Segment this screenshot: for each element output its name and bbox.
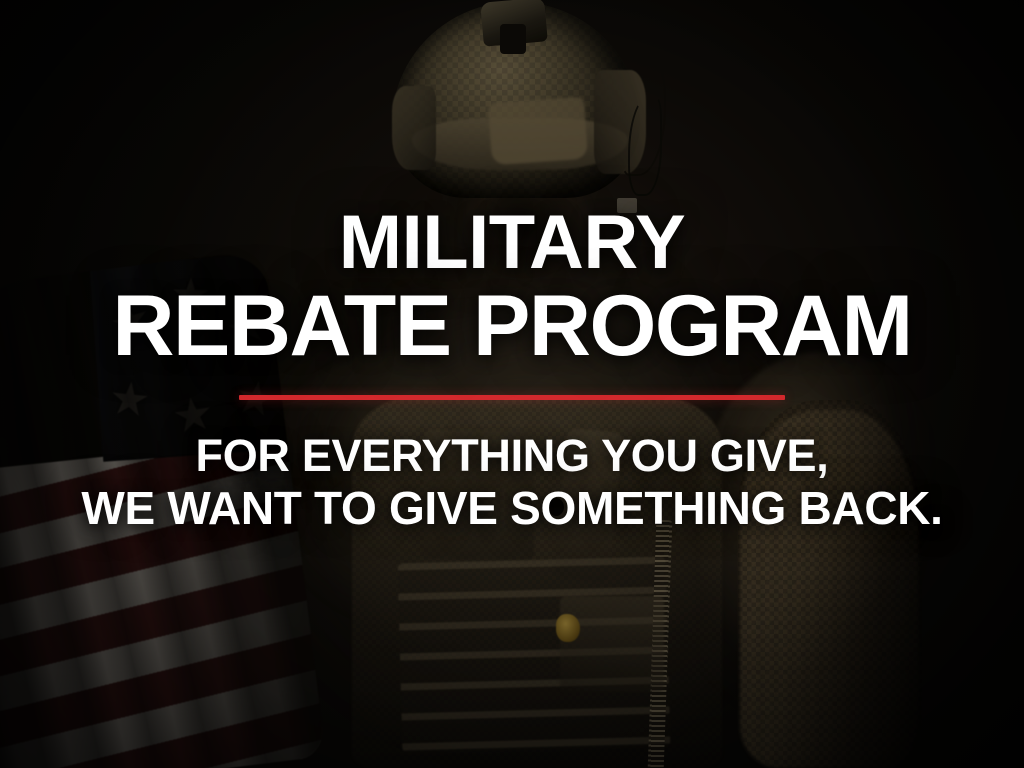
poster-text-block: MILITARY REBATE PROGRAM FOR EVERYTHING Y…: [0, 206, 1024, 536]
subheadline-line-2: WE WANT TO GIVE SOMETHING BACK.: [0, 482, 1024, 536]
poster-subheadline: FOR EVERYTHING YOU GIVE, WE WANT TO GIVE…: [0, 430, 1024, 536]
red-divider-rule: [239, 395, 785, 400]
headline-line-1: MILITARY: [0, 206, 1024, 280]
page-title: MILITARY REBATE PROGRAM: [0, 206, 1024, 369]
headline-line-2: REBATE PROGRAM: [0, 284, 1024, 368]
subheadline-line-1: FOR EVERYTHING YOU GIVE,: [0, 430, 1024, 483]
military-rebate-program-poster: ★ ★ ★ ★ ★ ★ MILITARY REBATE PROGRAM FOR …: [0, 0, 1024, 768]
